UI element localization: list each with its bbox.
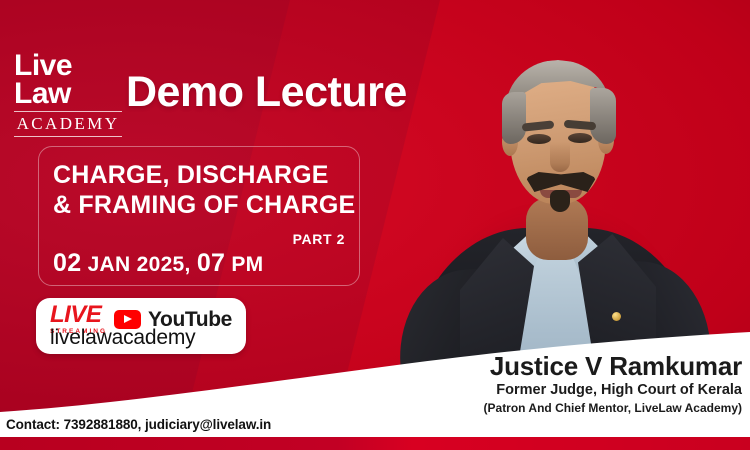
contact-text[interactable]: Contact: 7392881880, judiciary@livelaw.i… [0,417,271,432]
lecture-title-line-1: CHARGE, DISCHARGE [53,161,359,191]
lecture-datetime: 02 JAN 2025, 07 PM [53,249,263,278]
portrait-hair-side-right [590,88,616,144]
lecture-part-badge: PART 2 [293,231,345,247]
date-day: 02 [53,249,81,277]
logo-academy-text: ACADEMY [14,114,122,134]
lecture-details-card: CHARGE, DISCHARGE & FRAMING OF CHARGE PA… [38,146,360,286]
speaker-info: Justice V Ramkumar Former Judge, High Co… [322,352,742,417]
logo-law-text: Law [14,80,122,108]
bottom-red-strip [0,437,750,450]
time-number: 07 [197,249,225,277]
logo-divider-bottom [14,136,122,137]
contact-bar: Contact: 7392881880, judiciary@livelaw.i… [0,412,750,436]
logo-divider-top [14,111,122,112]
portrait-nose [550,142,570,172]
portrait-eye-right [568,133,592,143]
page-title: Demo Lecture [126,68,407,117]
speaker-role: Former Judge, High Court of Kerala [322,381,742,401]
lecture-title-line-2: & FRAMING OF CHARGE [53,191,359,221]
portrait-hair-side-left [502,92,526,144]
portrait-goatee [550,190,570,212]
time-meridiem: PM [231,253,263,276]
channel-handle[interactable]: livelawacademy [50,326,195,350]
portrait-eye-left [527,134,551,144]
live-streaming-badge[interactable]: LIVE STREAMING YouTube livelawacademy [36,298,246,354]
date-month-year: JAN 2025, [88,253,191,276]
promo-banner: Live Law ACADEMY Demo Lecture CHARGE, DI… [0,0,750,450]
live-label: LIVE [50,303,107,327]
livelaw-academy-logo[interactable]: Live Law ACADEMY [14,52,122,137]
logo-live-text: Live [14,52,122,80]
speaker-name: Justice V Ramkumar [322,352,742,381]
